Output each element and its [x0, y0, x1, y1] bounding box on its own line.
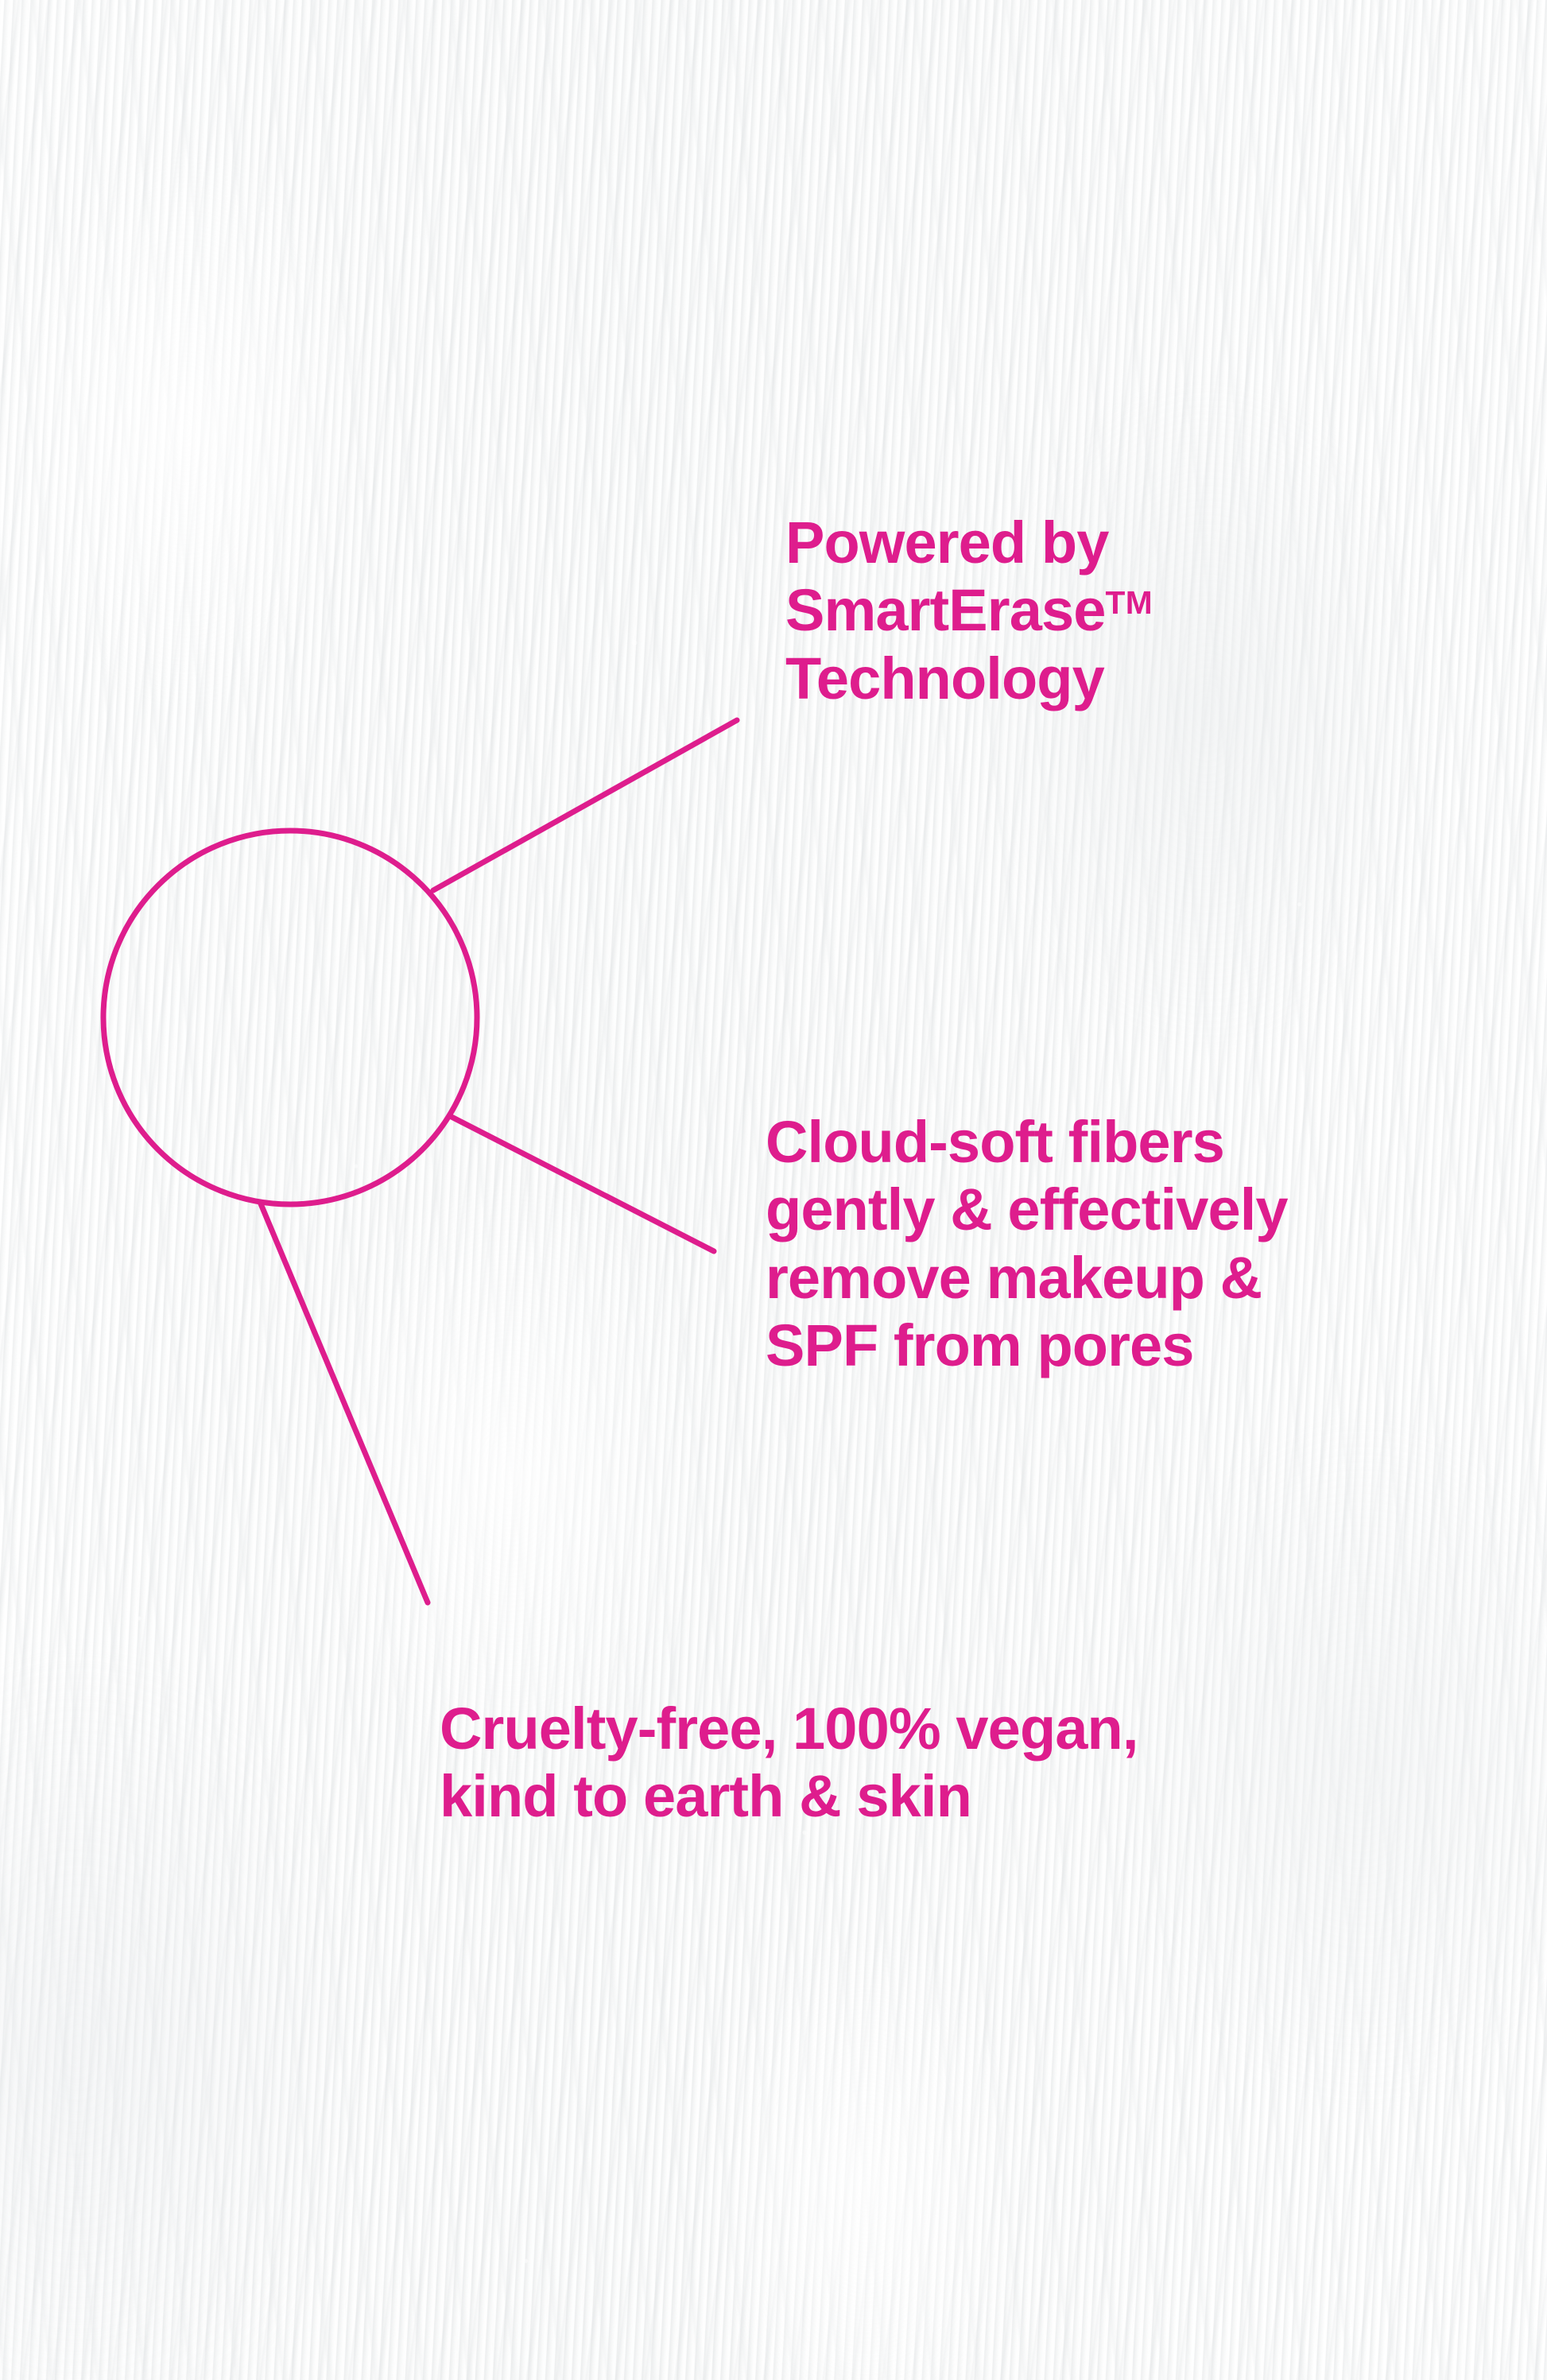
callout-technology-brand: SmartErase	[785, 577, 1106, 643]
callout-cruelty-free: Cruelty-free, 100% vegan, kind to earth …	[440, 1695, 1138, 1831]
leader-line-technology	[433, 720, 737, 890]
trademark-symbol: TM	[1106, 584, 1153, 621]
leader-line-cruelty-free	[260, 1202, 428, 1603]
callout-fibers: Cloud-soft fibers gently & effectively r…	[766, 1108, 1288, 1380]
callout-technology-line-1: Powered by	[785, 510, 1108, 576]
leader-line-fibers	[450, 1116, 714, 1251]
product-focus-circle	[103, 831, 477, 1204]
product-feature-poster: Powered bySmartEraseTMTechnology Cloud-s…	[0, 0, 1547, 2380]
callout-technology-line-3: Technology	[785, 645, 1104, 711]
callout-technology: Powered bySmartEraseTMTechnology	[785, 509, 1153, 712]
